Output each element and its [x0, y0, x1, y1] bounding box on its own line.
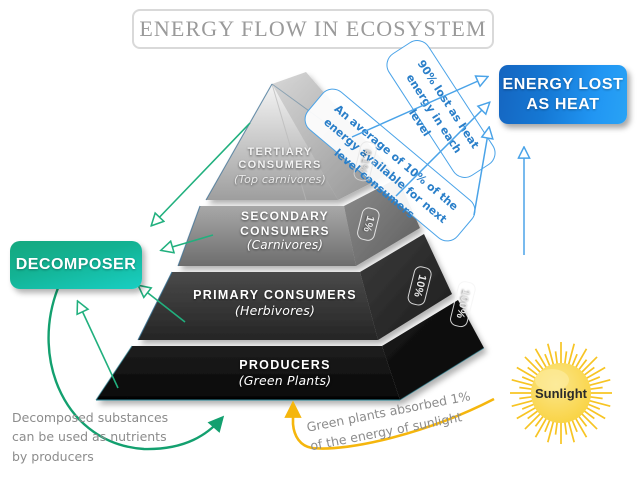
- sunlight-graphic: Sunlight: [506, 338, 616, 448]
- energy-lost-line1: Energy Lost: [503, 75, 624, 95]
- decomposer-arrow-tertiary: [152, 123, 250, 225]
- decomposer-box: Decomposer: [10, 241, 142, 289]
- decomposer-arrow-primary: [139, 286, 185, 322]
- heat-arrow-primary: [474, 128, 489, 215]
- energy-lost-as-heat-box: Energy Lost as Heat: [499, 65, 627, 124]
- decomposer-label: Decomposer: [16, 256, 137, 274]
- heat-arrow-secondary: [396, 103, 489, 196]
- heat-arrow-tertiary: [352, 77, 487, 137]
- nutrient-return-arrow: [49, 288, 222, 449]
- infographic-canvas: Energy Flow in Ecosystem: [0, 0, 640, 493]
- sun-highlight: [535, 369, 569, 391]
- energy-lost-line2: as Heat: [526, 95, 599, 115]
- sunlight-absorption-arrow: [293, 399, 494, 449]
- decomposer-arrow-producers: [78, 302, 118, 388]
- decomposer-arrow-secondary: [162, 235, 213, 250]
- sun-icon: [506, 338, 616, 448]
